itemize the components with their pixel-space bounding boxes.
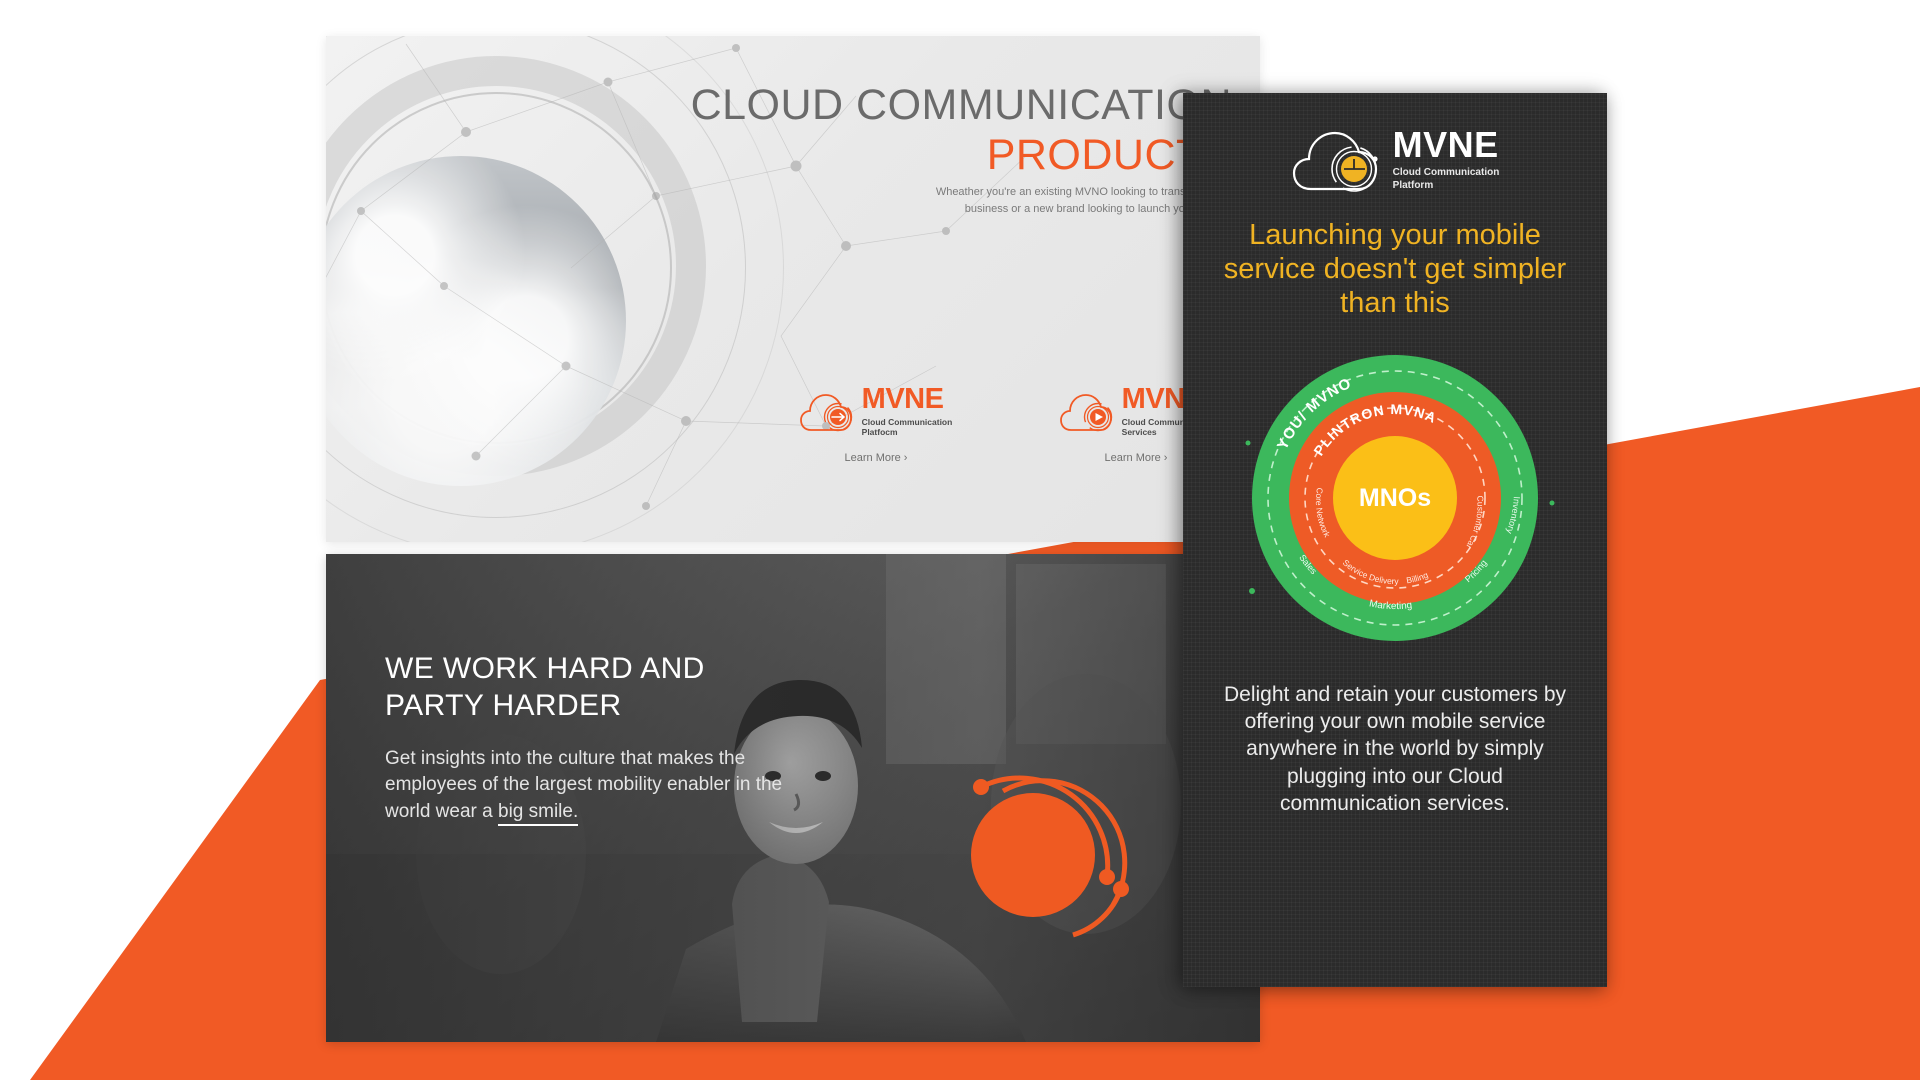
slide-cloud-communication-products[interactable]: CLOUD COMMUNICATION PRODUCTS Wheather yo…: [326, 36, 1260, 542]
products-title-block: CLOUD COMMUNICATION PRODUCTS: [691, 84, 1232, 180]
logo-word-mvne: MVNE: [862, 386, 953, 414]
accent-node-bottom-left: [1249, 588, 1255, 594]
cloud-play-icon: [1060, 389, 1116, 435]
accent-node-left: [1246, 440, 1251, 445]
learn-more-mvne[interactable]: Learn More ›: [845, 452, 908, 464]
value-chain-diagram-wrapper: YOU/ MVNO PLINTRON MVNA Marketing Sales …: [1183, 343, 1607, 653]
logo-tag-line1: Cloud Communication: [862, 417, 953, 427]
page-title: CLOUD COMMUNICATION: [691, 84, 1232, 127]
value-chain-ring-chart[interactable]: YOU/ MVNO PLINTRON MVNA Marketing Sales …: [1230, 343, 1560, 653]
panel-logo-tag-line2: Platform: [1393, 180, 1434, 191]
culture-body-underlined: big smile.: [498, 801, 578, 826]
slide-deck: CLOUD COMMUNICATION PRODUCTS Wheather yo…: [0, 0, 1920, 1080]
culture-heading-line1: WE WORK HARD AND: [385, 652, 705, 685]
orange-orbit-graphic: [955, 747, 1155, 947]
culture-body: Get insights into the culture that makes…: [385, 746, 805, 825]
logo-tag-line2: Services: [1122, 427, 1157, 437]
cloud-target-icon: [800, 389, 856, 435]
slide-we-work-hard[interactable]: WE WORK HARD AND PARTY HARDER Get insigh…: [326, 554, 1260, 1042]
culture-text-block: WE WORK HARD AND PARTY HARDER Get insigh…: [385, 651, 805, 825]
learn-more-mvna[interactable]: Learn More ›: [1105, 452, 1168, 464]
core-label-mnos: MNOs: [1359, 484, 1431, 512]
panel-logo: MVNE Cloud Communication Platform: [1183, 123, 1607, 197]
culture-heading: WE WORK HARD AND PARTY HARDER: [385, 651, 805, 724]
culture-heading-line2: PARTY HARDER: [385, 689, 622, 722]
panel-mvne-platform[interactable]: MVNE Cloud Communication Platform Launch…: [1183, 93, 1607, 987]
page-title-accent: PRODUCTS: [691, 131, 1232, 180]
panel-logo-word: MVNE: [1393, 128, 1500, 162]
product-card-mvne[interactable]: MVNE Cloud Communication Platfocm Learn …: [776, 386, 976, 464]
accent-node-right: [1550, 500, 1555, 505]
product-logo-row: MVNE Cloud Communication Platfocm Learn …: [776, 386, 1236, 464]
panel-logo-tag-line1: Cloud Communication: [1393, 167, 1500, 178]
culture-body-text: Get insights into the culture that makes…: [385, 748, 782, 821]
logo-tag-line2: Platfocm: [862, 427, 898, 437]
cloud-target-icon-yellow: [1291, 123, 1383, 197]
panel-footer-text: Delight and retain your customers by off…: [1183, 681, 1607, 817]
panel-headline: Launching your mobile service doesn't ge…: [1183, 219, 1607, 321]
